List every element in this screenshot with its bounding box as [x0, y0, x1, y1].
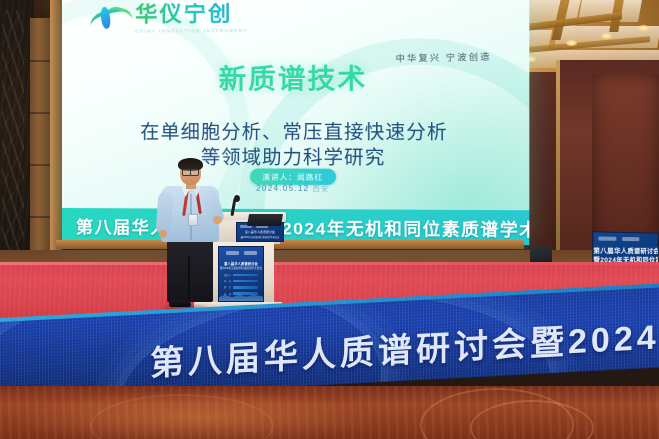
conference-photo-scene: 华仪宁创 CHINA INNOVATION INSTRUMENT 中华复兴 宁波… — [0, 0, 659, 439]
podium-top-display-line1: 第八届华人质谱研讨会 — [237, 230, 283, 234]
speaker-left-hand — [159, 230, 167, 238]
speaker-glasses-icon — [182, 169, 199, 174]
laptop-on-podium — [247, 214, 283, 226]
speaker-leg-split — [188, 256, 190, 300]
slide-title: 新质谱技术 — [62, 56, 529, 97]
logo-name-en: CHINA INNOVATION INSTRUMENT — [135, 28, 248, 34]
side-panel-logos — [598, 235, 653, 241]
podium-display-row: 报告人 — [224, 273, 258, 277]
slide-date: 2024.05.12西安 — [256, 184, 329, 194]
main-led-screen: 华仪宁创 CHINA INNOVATION INSTRUMENT 中华复兴 宁波… — [62, 0, 529, 245]
podium-top-display-line2: 暨2024年无机和同位素质谱学术会议 — [237, 235, 283, 239]
slide-subtitle-line2: 等领域助力科学研究 — [62, 142, 529, 170]
left-marble-wall — [0, 0, 34, 292]
company-logo-icon — [90, 6, 130, 32]
microphone-head-icon — [234, 195, 240, 202]
right-wall-panel — [592, 74, 659, 244]
speaker-shoe — [169, 300, 191, 307]
speaker-name-badge: 演讲人：闻路红 — [250, 168, 336, 184]
speaker-badge — [188, 214, 198, 226]
carpet-pattern — [90, 394, 274, 439]
downlight — [601, 33, 612, 39]
logo-name-cn: 华仪宁创 — [135, 3, 248, 26]
speaker-person — [155, 160, 229, 310]
foreground-carpet — [0, 386, 659, 439]
stage-edge-highlight — [0, 262, 659, 265]
downlight — [566, 40, 577, 46]
slide-location: 西安 — [313, 186, 330, 193]
podium-display-row: 题 目 — [224, 285, 258, 289]
podium-display-row: 单 位 — [224, 279, 258, 283]
screen-frame-bottom — [56, 240, 524, 249]
speaker-right-hand — [213, 216, 222, 224]
slide-date-value: 2024.05.12 — [256, 184, 309, 193]
speaker-left-arm — [156, 192, 174, 235]
sponsor-logo: 华仪宁创 CHINA INNOVATION INSTRUMENT — [90, 3, 248, 34]
downlight — [638, 25, 649, 31]
slide-subtitle-line1: 在单细胞分析、常压直接快速分析 — [62, 117, 529, 145]
speaker-trousers — [167, 238, 213, 302]
slide-banner-text: 第八届华人质谱研讨会暨2024年无机和同位素质谱学术会议 — [62, 213, 529, 241]
podium-display-rows: 报告人 单 位 题 目 时 间 — [224, 273, 258, 298]
